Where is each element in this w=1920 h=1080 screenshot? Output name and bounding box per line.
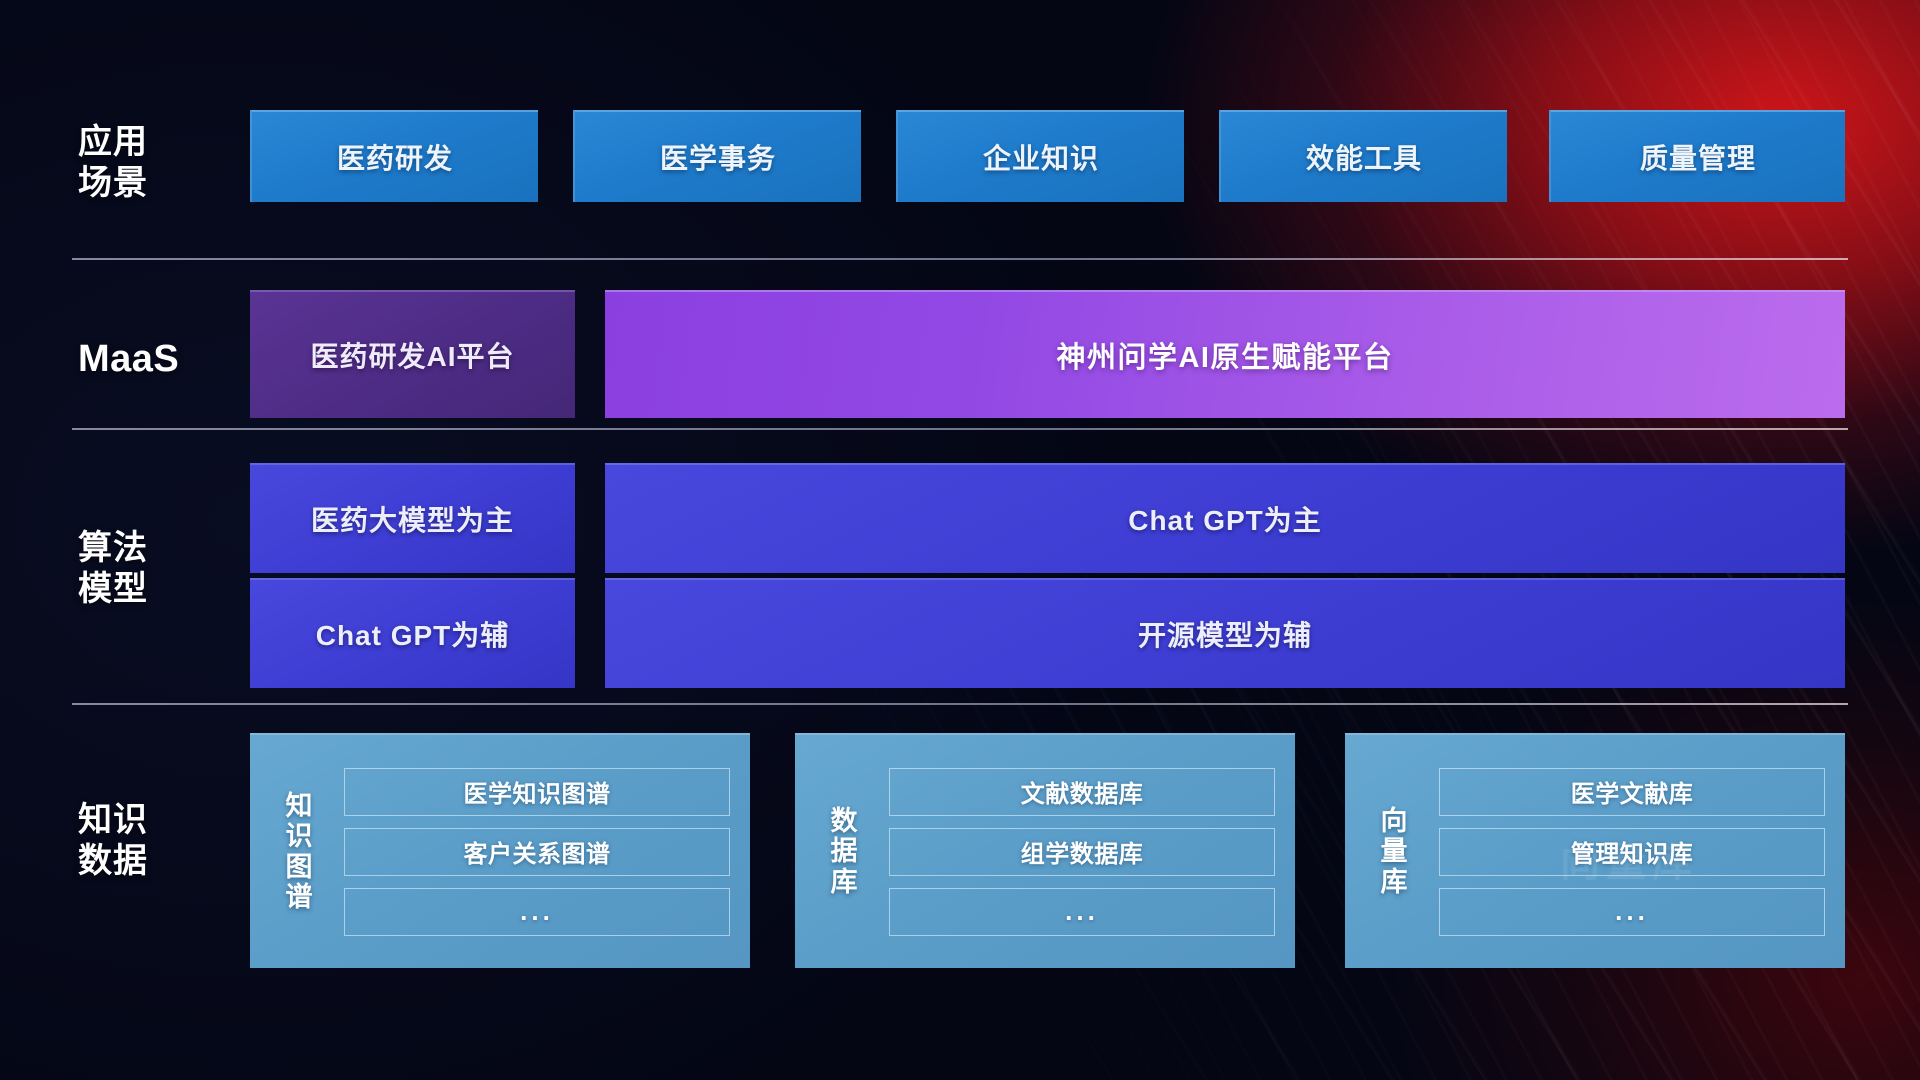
knowledge-panel-1-item-2[interactable]: 客户关系图谱 [344, 828, 730, 876]
divider-algorithm-knowledge [72, 703, 1848, 705]
knowledge-panel-3-item-1[interactable]: 医学文献库 [1439, 768, 1825, 816]
knowledge-panel-1-item-3[interactable]: ... [344, 888, 730, 936]
scenario-card-3[interactable]: 企业知识 [896, 110, 1184, 202]
scenario-card-4[interactable]: 效能工具 [1219, 110, 1507, 202]
algorithm-card-opensource-secondary[interactable]: 开源模型为辅 [605, 578, 1845, 688]
knowledge-panel-3-item-2[interactable]: 管理知识库 [1439, 828, 1825, 876]
knowledge-panel-1-items: 医学知识图谱 客户关系图谱 ... [330, 768, 736, 936]
row-label-knowledge: 知识 数据 [78, 800, 208, 883]
algorithm-card-chatgpt-secondary[interactable]: Chat GPT为辅 [250, 578, 575, 688]
architecture-diagram-canvas: 应用 场景 医药研发 医学事务 企业知识 效能工具 质量管理 MaaS 医药研发… [0, 0, 1920, 1080]
algorithm-card-chatgpt-primary[interactable]: Chat GPT为主 [605, 463, 1845, 573]
row-label-knowledge-line1: 知识 [78, 800, 208, 841]
row-label-scenario-line1: 应用 [78, 122, 208, 163]
knowledge-panel-1-side-label: 知识图谱 [268, 791, 330, 912]
knowledge-panel-3-item-3[interactable]: ... [1439, 888, 1825, 936]
row-label-maas: MaaS [78, 336, 208, 382]
scenario-card-1[interactable]: 医药研发 [250, 110, 538, 202]
knowledge-panel-3-side-label: 向量库 [1363, 806, 1425, 897]
knowledge-panel-2-item-2[interactable]: 组学数据库 [889, 828, 1275, 876]
knowledge-panel-knowledge-graph[interactable]: 知识图谱 医学知识图谱 客户关系图谱 ... [250, 733, 750, 968]
scenario-card-5[interactable]: 质量管理 [1549, 110, 1845, 202]
knowledge-panel-3-items: 医学文献库 管理知识库 ... [1425, 768, 1831, 936]
divider-scenario-maas [72, 258, 1848, 260]
knowledge-panel-database[interactable]: 数据库 文献数据库 组学数据库 ... [795, 733, 1295, 968]
knowledge-panel-1-item-1[interactable]: 医学知识图谱 [344, 768, 730, 816]
knowledge-panel-vector-store[interactable]: 向量库 医学文献库 管理知识库 ... [1345, 733, 1845, 968]
knowledge-panel-2-item-3[interactable]: ... [889, 888, 1275, 936]
knowledge-panel-2-side-label: 数据库 [813, 806, 875, 897]
row-label-scenario: 应用 场景 [78, 122, 208, 205]
row-label-algorithm-line2: 模型 [78, 569, 208, 610]
row-label-knowledge-line2: 数据 [78, 841, 208, 882]
row-label-scenario-line2: 场景 [78, 163, 208, 204]
knowledge-panel-2-item-1[interactable]: 文献数据库 [889, 768, 1275, 816]
algorithm-card-medical-model-primary[interactable]: 医药大模型为主 [250, 463, 575, 573]
maas-card-medical-ai-platform[interactable]: 医药研发AI平台 [250, 290, 575, 418]
row-label-algorithm-line1: 算法 [78, 528, 208, 569]
scenario-card-2[interactable]: 医学事务 [573, 110, 861, 202]
knowledge-panel-2-items: 文献数据库 组学数据库 ... [875, 768, 1281, 936]
maas-card-shenzhou-wenxue-platform[interactable]: 神州问学AI原生赋能平台 [605, 290, 1845, 418]
divider-maas-algorithm [72, 428, 1848, 430]
row-label-algorithm: 算法 模型 [78, 528, 208, 611]
